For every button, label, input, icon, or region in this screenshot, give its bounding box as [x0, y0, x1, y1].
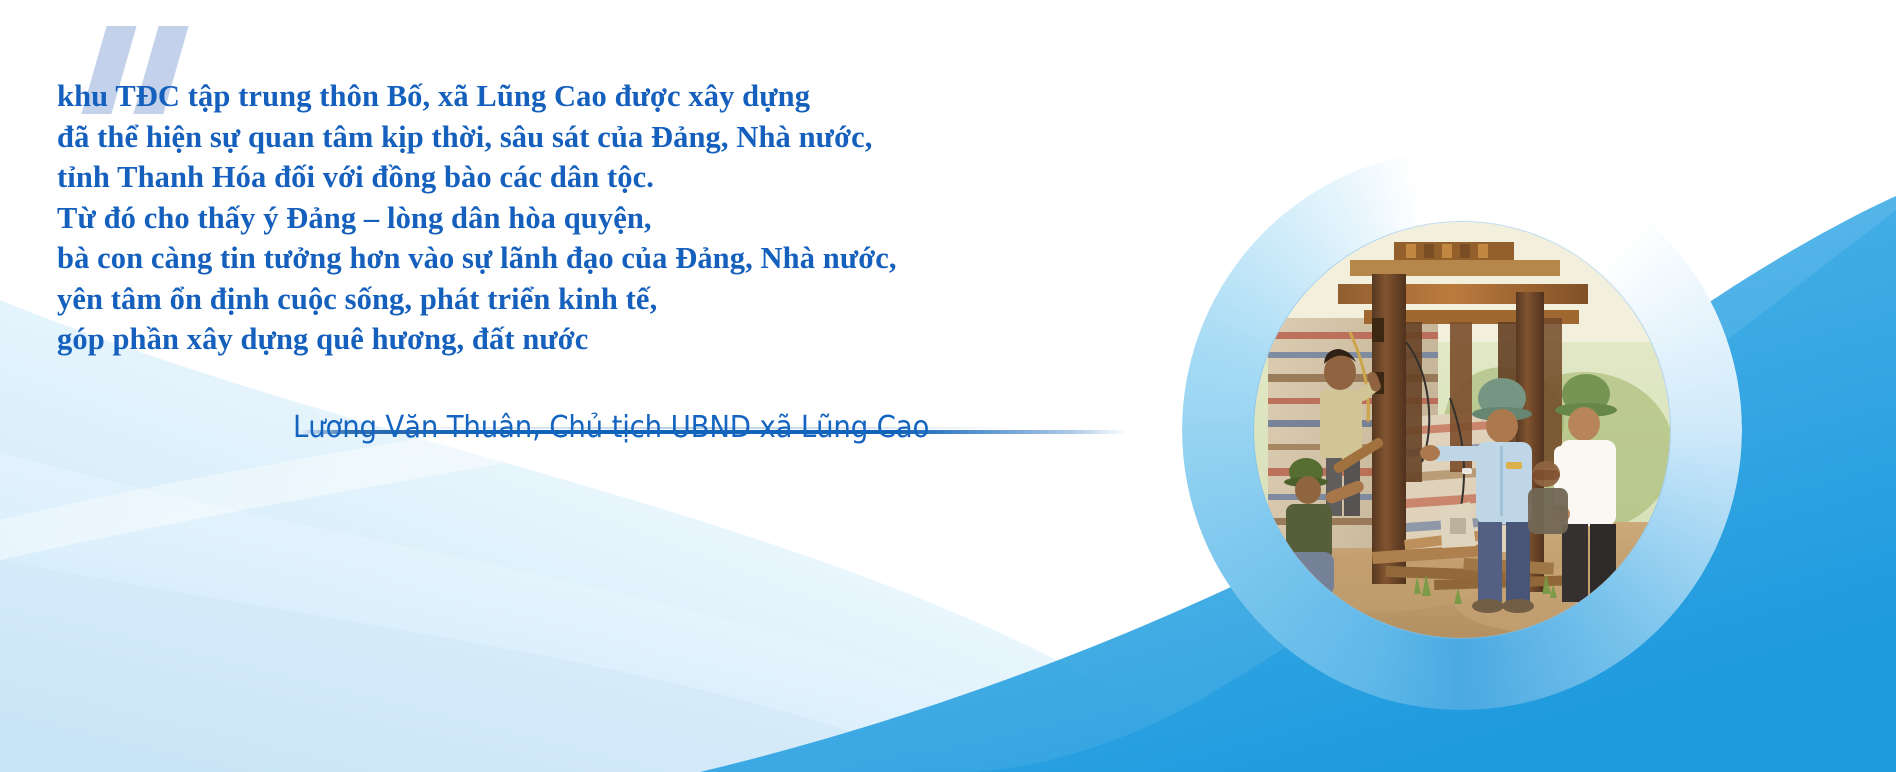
quote-line: tỉnh Thanh Hóa đối với đồng bào các dân … — [57, 157, 1137, 198]
attribution-text: Lương Văn Thuân, Chủ tịch UBND xã Lũng C… — [293, 410, 929, 445]
circular-photo-medallion — [1182, 150, 1742, 710]
quote-line: Từ đó cho thấy ý Đảng – lòng dân hòa quy… — [57, 198, 1137, 239]
banner-stage: khu TĐC tập trung thôn Bố, xã Lũng Cao đ… — [0, 0, 1896, 772]
quote-line: yên tâm ổn định cuộc sống, phát triển ki… — [57, 279, 1137, 320]
construction-site-photo — [1254, 222, 1670, 638]
quote-line: góp phần xây dựng quê hương, đất nước — [57, 319, 1137, 360]
quote-line: bà con càng tin tưởng hơn vào sự lãnh đạ… — [57, 238, 1137, 279]
quote-line: đã thể hiện sự quan tâm kịp thời, sâu sá… — [57, 117, 1137, 158]
quote-line: khu TĐC tập trung thôn Bố, xã Lũng Cao đ… — [57, 76, 1137, 117]
quote-text: khu TĐC tập trung thôn Bố, xã Lũng Cao đ… — [57, 76, 1137, 360]
